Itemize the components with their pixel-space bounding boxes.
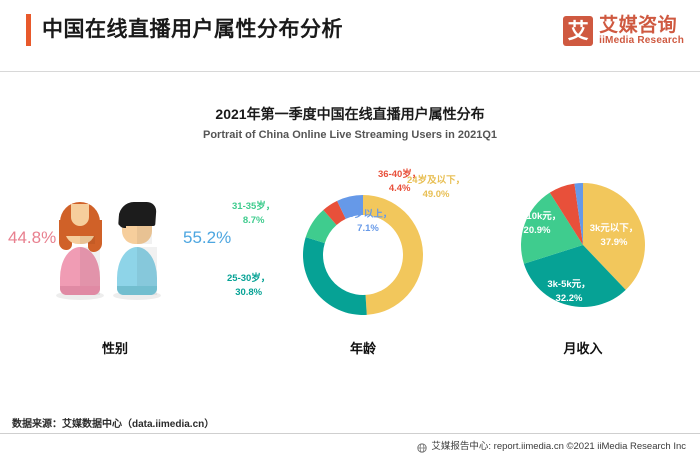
age-chart: 36-40岁， 4.4% 31-35岁， 8.7% 25-30岁， 30.8% … xyxy=(235,160,485,360)
page-title: 中国在线直播用户属性分布分析 xyxy=(42,13,343,43)
age-label-25-30-value: 30.8% xyxy=(235,287,262,298)
male-body-base xyxy=(117,286,157,295)
brand-name-cn: 艾媒咨询 xyxy=(599,16,684,36)
income-pie-svg xyxy=(485,160,700,360)
female-body-base xyxy=(60,286,100,295)
category-label-income: 月收入 xyxy=(528,338,638,357)
income-label-under3k: 3k元以下， 37.9% xyxy=(578,222,650,251)
age-slice-1 xyxy=(303,237,367,315)
gender-value-female: 44.8% xyxy=(8,228,56,248)
age-label-over40-value: 7.1% xyxy=(357,223,379,234)
age-label-over40: 40岁以上， 7.1% xyxy=(328,208,408,236)
income-label-under3k-value: 37.9% xyxy=(601,237,628,248)
female-hair-part xyxy=(71,204,89,226)
brand-logo: 艾 艾媒咨询 iiMedia Research xyxy=(563,16,684,46)
income-label-5k-10k: 5k-10k元， 20.9% xyxy=(498,210,576,239)
title-accent-bar xyxy=(26,14,31,46)
footer-report-text: 艾媒报告中心: report.iimedia.cn ©2021 iiMedia … xyxy=(431,438,686,452)
brand-text: 艾媒咨询 iiMedia Research xyxy=(599,16,684,46)
male-hair-side xyxy=(119,212,126,228)
age-label-under24-value: 49.0% xyxy=(423,189,450,200)
income-chart: 3k元以下， 37.9% 3k-5k元， 32.2% 5k-10k元， 20.9… xyxy=(485,160,700,360)
age-label-over40-name: 40岁以上， xyxy=(344,209,393,220)
gender-figures xyxy=(50,182,180,302)
category-label-gender: 性别 xyxy=(60,338,170,357)
brand-name-en: iiMedia Research xyxy=(599,36,684,47)
female-figure-icon xyxy=(50,182,110,302)
income-label-3k-5k-value: 32.2% xyxy=(556,293,583,304)
income-label-3k-5k-name: 3k-5k元， xyxy=(547,279,590,290)
age-label-under24-name: 24岁及以下， xyxy=(407,175,465,186)
age-label-31-35: 31-35岁， 8.7% xyxy=(232,200,275,228)
income-label-3k-5k: 3k-5k元， 32.2% xyxy=(533,278,605,307)
income-label-under3k-name: 3k元以下， xyxy=(590,223,639,234)
age-label-under24: 24岁及以下， 49.0% xyxy=(407,174,465,202)
male-figure-icon xyxy=(107,182,167,302)
age-label-25-30: 25-30岁， 30.8% xyxy=(227,272,270,300)
income-label-5k-10k-name: 5k-10k元， xyxy=(513,211,562,222)
age-label-25-30-name: 25-30岁， xyxy=(227,273,270,284)
brand-mark-icon: 艾 xyxy=(563,16,593,46)
age-label-31-35-value: 8.7% xyxy=(243,215,265,226)
income-label-5k-10k-value: 20.9% xyxy=(524,225,551,236)
gender-value-male: 55.2% xyxy=(183,228,231,248)
source-note: 数据来源：艾媒数据中心（data.iimedia.cn） xyxy=(12,415,214,430)
gender-chart: 44.8% 55.2% xyxy=(0,160,235,360)
chart-subtitle: Portrait of China Online Live Streaming … xyxy=(0,129,700,141)
age-label-31-35-name: 31-35岁， xyxy=(232,201,275,212)
page-header: 中国在线直播用户属性分布分析 艾 艾媒咨询 iiMedia Research xyxy=(0,0,700,72)
category-label-age: 年龄 xyxy=(308,338,418,357)
footer-bar: 艾媒报告中心: report.iimedia.cn ©2021 iiMedia … xyxy=(0,434,700,455)
header-divider xyxy=(0,71,700,72)
globe-icon xyxy=(417,440,427,450)
chart-title: 2021年第一季度中国在线直播用户属性分布 xyxy=(0,104,700,124)
